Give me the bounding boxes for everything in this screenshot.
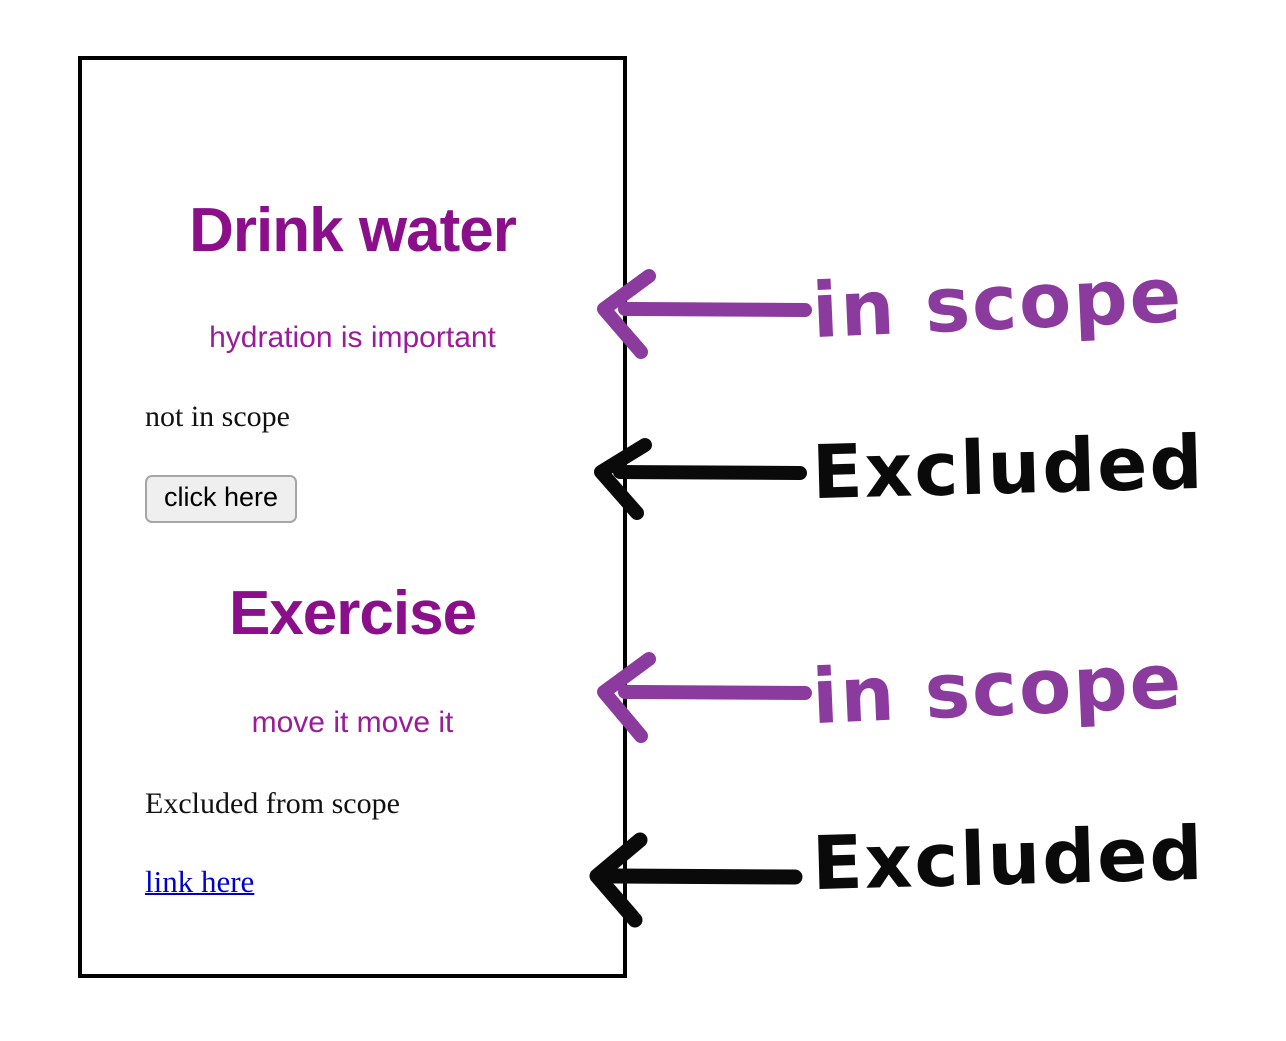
rendered-page-panel: Drink water hydration is important not i… [78,56,627,978]
annotation-label-excluded-1: Excluded [811,420,1205,516]
body-text-excluded-from-scope: Excluded from scope [82,787,623,820]
annotation-arrow-excluded-1 [601,445,800,513]
subheading-hydration: hydration is important [82,321,623,354]
annotation-label-excluded-2: Excluded [811,811,1205,907]
button-row: click here [82,475,623,523]
link-here-link[interactable]: link here [145,864,254,899]
click-here-button[interactable]: click here [145,475,297,523]
annotation-label-in-scope-2: in scope [810,636,1185,741]
annotation-arrow-in-scope-1 [604,276,805,352]
body-text-not-in-scope: not in scope [82,400,623,433]
annotation-label-in-scope-1: in scope [810,250,1185,355]
panel-content: Drink water hydration is important not i… [82,60,623,974]
heading-exercise: Exercise [82,581,623,646]
subheading-move-it: move it move it [82,706,623,739]
heading-drink-water: Drink water [82,198,623,263]
annotation-arrow-in-scope-2 [604,659,805,736]
link-row: link here [82,864,623,900]
